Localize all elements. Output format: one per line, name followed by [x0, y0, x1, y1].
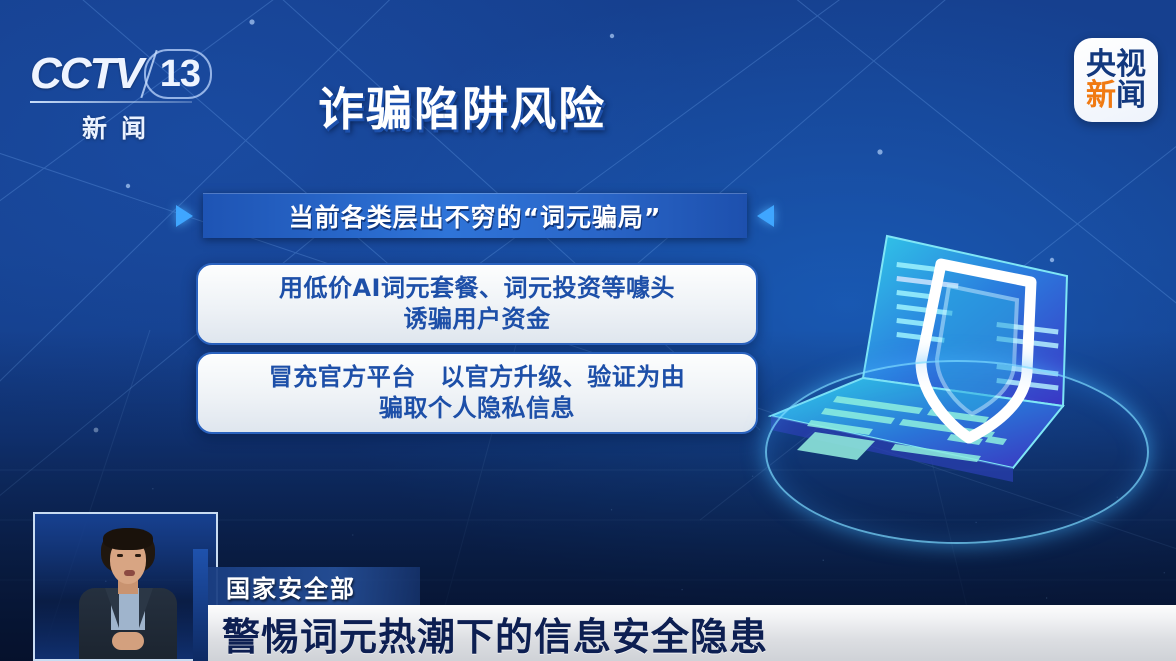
badge-char-wen: 闻: [1116, 80, 1146, 111]
cctv-channel-number-badge: 13: [144, 49, 212, 99]
banner-label: 当前各类层出不穷的“词元骗局”: [289, 198, 662, 234]
banner-row: 当前各类层出不穷的“词元骗局”: [176, 193, 774, 238]
cctv-logo-subtitle: 新闻: [30, 109, 198, 145]
page-title: 诈骗陷阱风险: [318, 84, 606, 135]
info-card-line: 用低价AI词元套餐、词元投资等噱头: [279, 273, 675, 304]
lower-third-accent-bar: [193, 549, 208, 661]
info-card: 用低价AI词元套餐、词元投资等噱头 诱骗用户资金: [196, 263, 758, 345]
source-label: 国家安全部: [226, 569, 356, 604]
triangle-right-icon: [176, 205, 193, 227]
cctv13-logo: CCTV 13 新闻: [30, 48, 210, 148]
cctv-underline-rule: [30, 101, 192, 103]
cctv-channel-number: 13: [160, 55, 200, 93]
badge-char-xin: 新: [1086, 80, 1116, 111]
badge-line-two: 新 闻: [1086, 80, 1146, 111]
badge-line-one: 央 视: [1086, 49, 1146, 80]
info-card: 冒充官方平台 以官方升级、验证为由 骗取个人隐私信息: [196, 352, 758, 434]
cctv-news-badge: 央 视 新 闻: [1074, 38, 1158, 122]
cctv-slash-icon: [140, 50, 157, 98]
headline-label: 警惕词元热潮下的信息安全隐患: [222, 606, 768, 661]
cctv-wordmark: CCTV: [30, 52, 142, 96]
anchor-hair-front: [103, 528, 153, 550]
broadcast-screen: CCTV 13 新闻 央 视 新 闻 诈骗陷阱风险 当前各类层出不穷的“词元骗局…: [0, 0, 1176, 661]
info-card-line: 骗取个人隐私信息: [379, 393, 575, 424]
laptop-shield-illustration: [745, 200, 1165, 550]
info-card-line: 诱骗用户资金: [404, 304, 551, 335]
badge-char-yang: 央: [1086, 49, 1116, 80]
banner-bar: 当前各类层出不穷的“词元骗局”: [203, 193, 747, 238]
badge-char-shi: 视: [1116, 49, 1146, 80]
headline-bar: 警惕词元热潮下的信息安全隐患: [208, 605, 1176, 661]
info-card-line: 冒充官方平台 以官方升级、验证为由: [269, 362, 686, 393]
source-bar: 国家安全部: [208, 567, 420, 605]
glow-ring-decoration: [765, 360, 1149, 544]
lower-third: 国家安全部 警惕词元热潮下的信息安全隐患: [0, 549, 1176, 661]
